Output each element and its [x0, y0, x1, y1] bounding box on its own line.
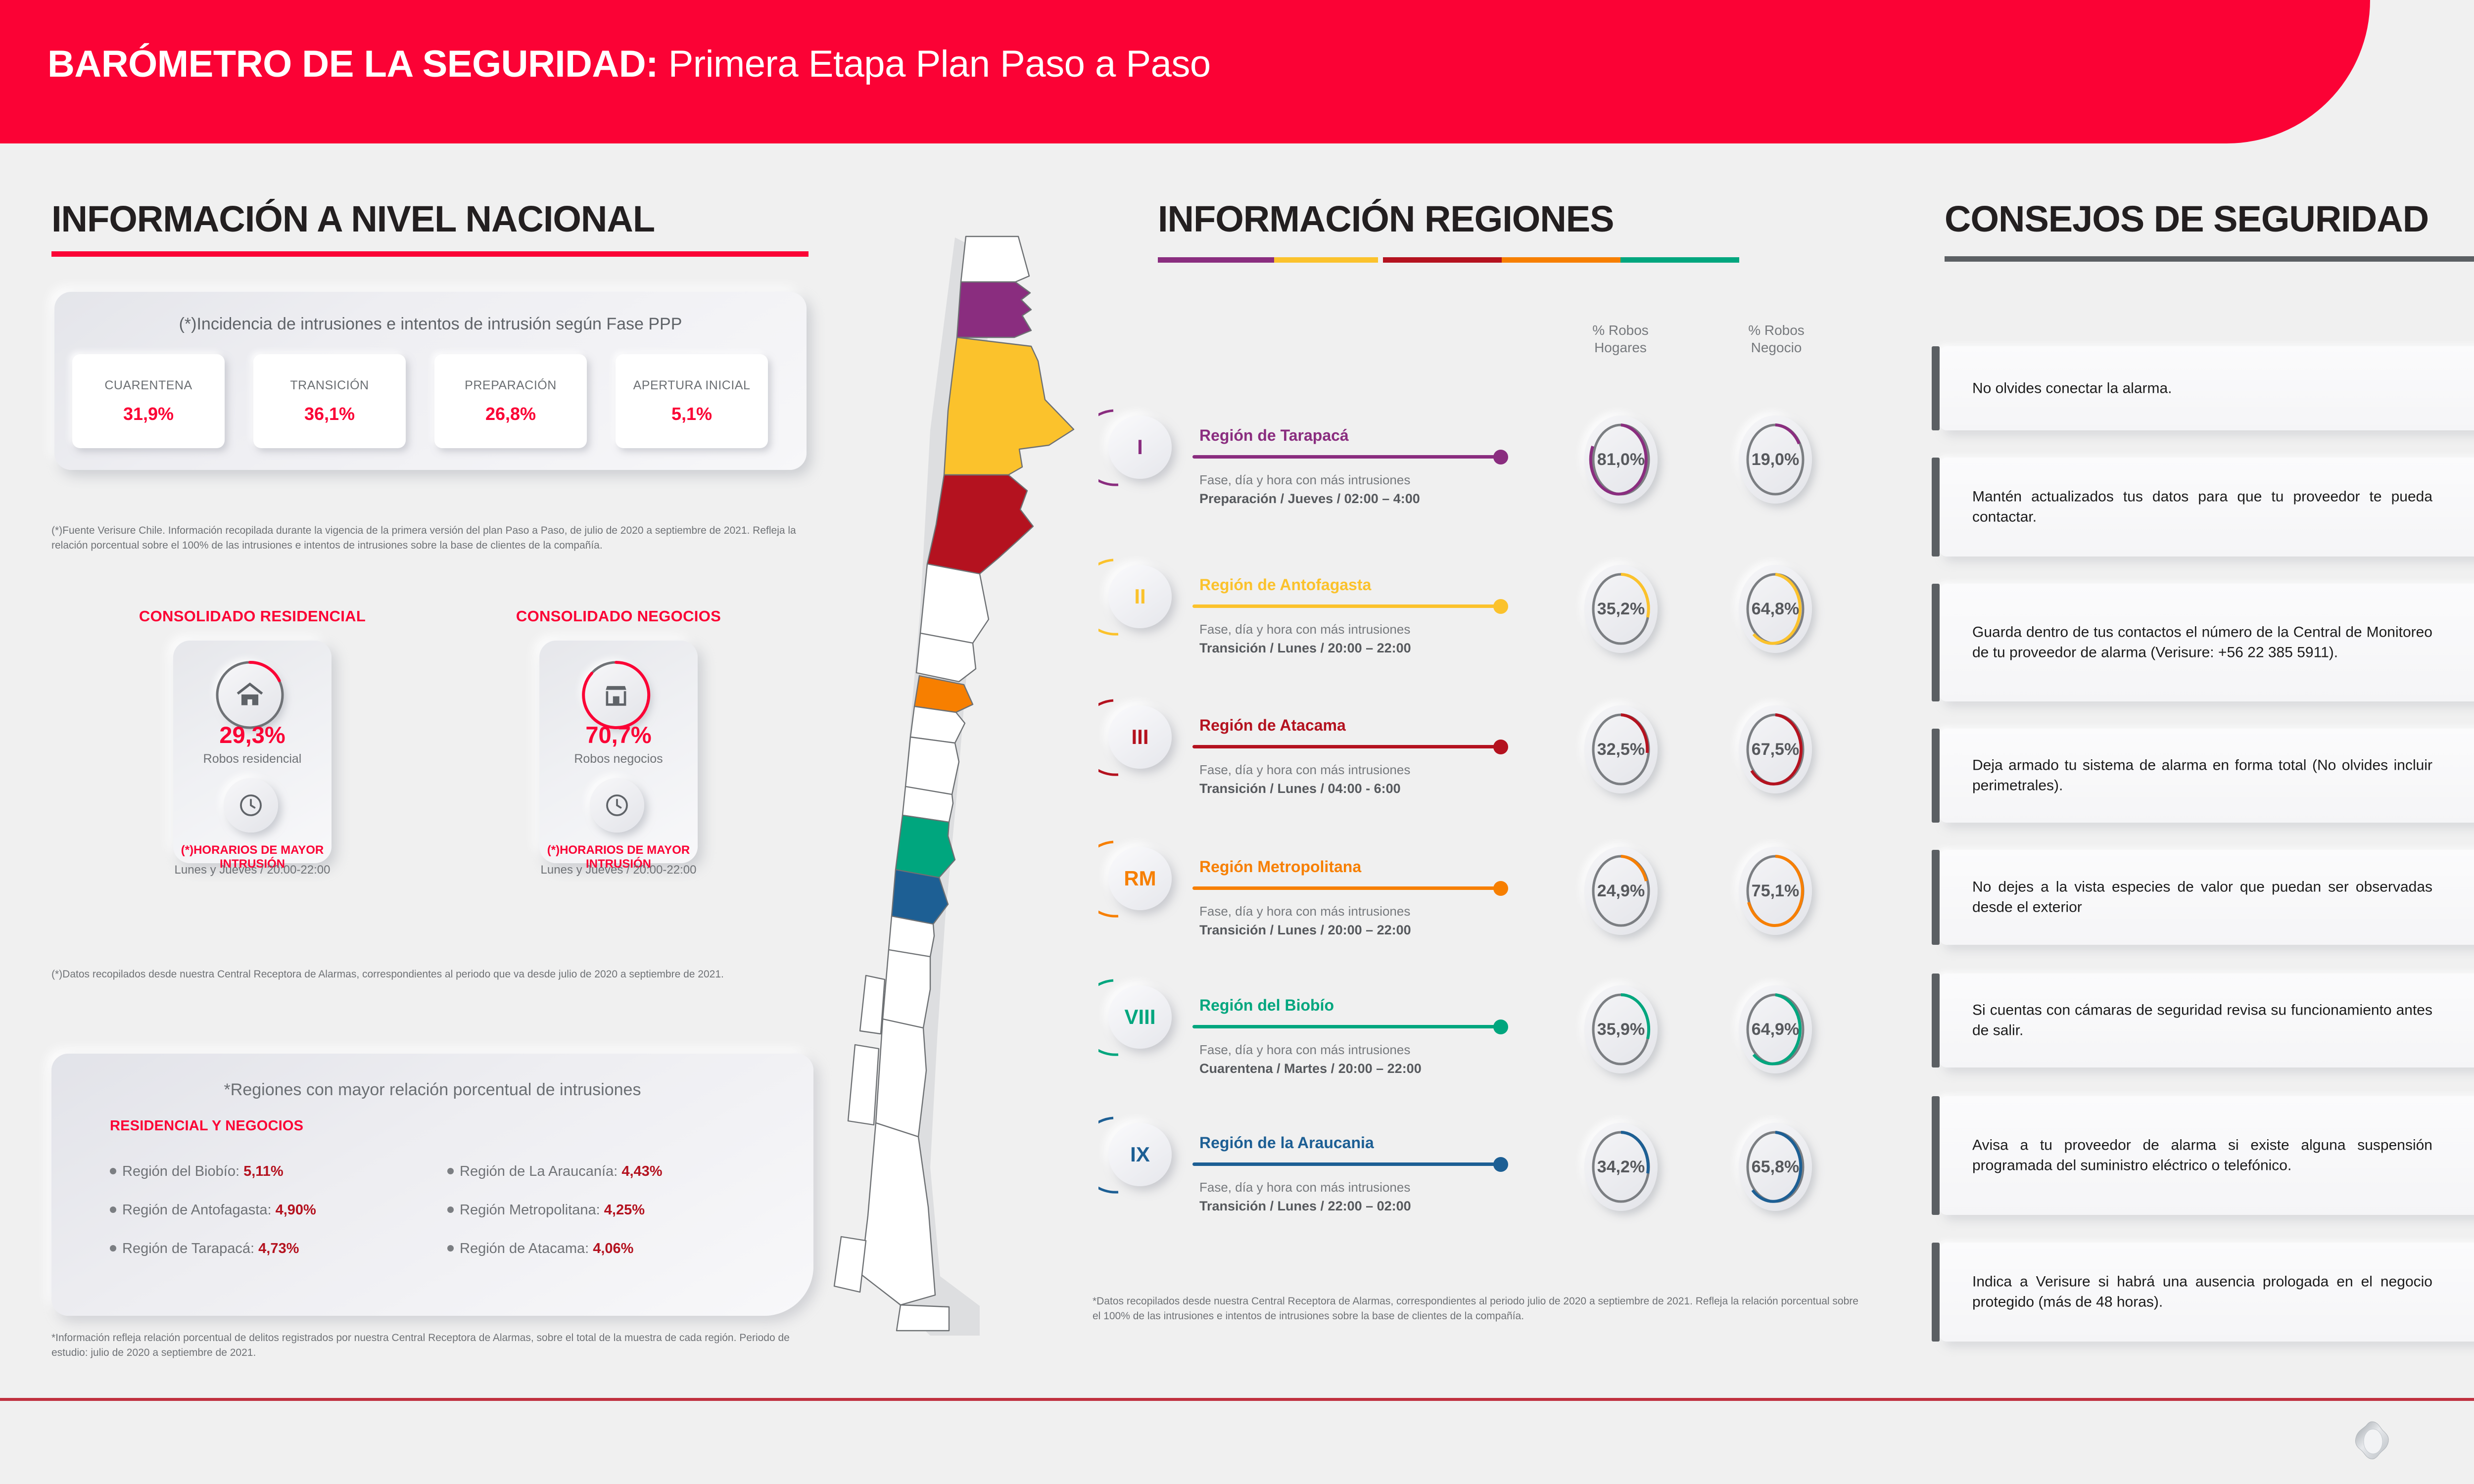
national-title-underline	[51, 251, 809, 257]
region-badge-arc	[1098, 406, 1182, 489]
chile-map	[831, 198, 1138, 1345]
top-regions-panel: *Regiones con mayor relación porcentual …	[51, 1054, 813, 1316]
phase-value: 26,8%	[485, 404, 536, 424]
region-badge-arc	[1098, 1113, 1182, 1196]
region-detail: Transición / Lunes / 04:00 - 6:00	[1199, 781, 1401, 796]
phase-value: 36,1%	[304, 404, 355, 424]
phase-label: APERTURA INICIAL	[633, 378, 751, 393]
verisure-shield-icon	[2352, 1421, 2392, 1461]
region-detail: Transición / Lunes / 22:00 – 02:00	[1199, 1199, 1411, 1214]
bullet-icon	[110, 1245, 116, 1252]
top-region-value: 4,73%	[258, 1241, 299, 1256]
clock-icon	[224, 778, 278, 833]
region-name: Región de la Araucania	[1199, 1134, 1374, 1152]
bullet-icon	[447, 1168, 454, 1174]
regions-underline-seg-2	[1274, 257, 1378, 263]
top-region-item: Región Metropolitana: 4,25%	[447, 1202, 645, 1218]
region-homes-value: 35,9%	[1584, 985, 1658, 1073]
tip-text: No olvides conectar la alarma.	[1972, 378, 2432, 398]
region-homes-value: 32,5%	[1584, 705, 1658, 793]
tip-text: No dejes a la vista especies de valor qu…	[1972, 877, 2432, 918]
page-header: BARÓMETRO DE LA SEGURIDAD: Primera Etapa…	[0, 0, 2370, 143]
region-name: Región Metropolitana	[1199, 858, 1361, 876]
regions-footnote: *Datos recopilados desde nuestra Central…	[1093, 1294, 1864, 1324]
bullet-icon	[447, 1245, 454, 1252]
top-region-value: 4,43%	[621, 1163, 662, 1179]
tip-accent-bar	[1932, 346, 1940, 430]
region-connector-line	[1192, 604, 1499, 608]
region-business-value: 67,5%	[1739, 705, 1812, 793]
phase-label: TRANSICIÓN	[290, 378, 369, 393]
region-detail: Transición / Lunes / 20:00 – 22:00	[1199, 641, 1411, 656]
region-business-ring: 64,8%	[1739, 565, 1812, 653]
top-region-item: Región del Biobío: 5,11%	[110, 1163, 284, 1180]
phase-card-heading: (*)Incidencia de intrusiones e intentos …	[54, 315, 807, 334]
tip-card[interactable]: Avisa a tu proveedor de alarma si existe…	[1940, 1096, 2474, 1215]
region-connector-line	[1192, 455, 1499, 459]
region-sub-label: Fase, día y hora con más intrusiones	[1199, 1042, 1410, 1058]
top-region-item: Región de Tarapacá: 4,73%	[110, 1241, 299, 1257]
bullet-icon	[110, 1168, 116, 1174]
region-homes-value: 35,2%	[1584, 565, 1658, 653]
region-business-ring: 19,0%	[1739, 416, 1812, 504]
top-region-item: Región de La Araucanía: 4,43%	[447, 1163, 663, 1180]
column-header-hogares: % Robos Hogares	[1566, 322, 1675, 356]
region-connector-dot	[1493, 1157, 1508, 1172]
top-region-item: Región de Atacama: 4,06%	[447, 1241, 633, 1257]
top-region-name: Región de Tarapacá:	[122, 1241, 254, 1256]
section-title-national: INFORMACIÓN A NIVEL NACIONAL	[51, 198, 655, 240]
tip-accent-bar	[1932, 458, 1940, 556]
top-region-name: Región de Atacama:	[460, 1241, 589, 1256]
top-region-name: Región de La Araucanía:	[460, 1163, 618, 1179]
region-connector-line	[1192, 1025, 1499, 1028]
region-badge-arc	[1098, 837, 1182, 920]
tips-title-underline	[1945, 256, 2474, 262]
bullet-icon	[110, 1206, 116, 1213]
region-badge-arc	[1098, 696, 1182, 779]
business-value-label: Robos negocios	[539, 752, 698, 766]
top-region-value: 4,90%	[276, 1202, 316, 1218]
region-badge-arc	[1098, 975, 1182, 1059]
region-business-ring: 65,8%	[1739, 1123, 1812, 1211]
business-hours-value: Lunes y Jueves / 20:00-22:00	[539, 863, 698, 877]
region-business-value: 75,1%	[1739, 847, 1812, 935]
top-region-name: Región de Antofagasta:	[122, 1202, 272, 1218]
region-business-ring: 67,5%	[1739, 705, 1812, 793]
region-badge-arc	[1098, 555, 1182, 638]
region-detail: Preparación / Jueves / 02:00 – 4:00	[1199, 491, 1420, 507]
region-name: Región de Atacama	[1199, 716, 1346, 735]
region-name: Región del Biobío	[1199, 996, 1334, 1015]
consolidated-business-title: CONSOLIDADO NEGOCIOS	[495, 607, 742, 625]
phase-label: CUARENTENA	[104, 378, 192, 393]
phase-value: 31,9%	[123, 404, 174, 424]
business-value: 70,7%	[539, 721, 698, 748]
phase-tile-preparacion: PREPARACIÓN 26,8%	[434, 354, 587, 448]
tip-text: Mantén actualizados tus datos para que t…	[1972, 487, 2432, 528]
region-business-value: 19,0%	[1739, 416, 1812, 504]
region-homes-value: 34,2%	[1584, 1123, 1658, 1211]
region-sub-label: Fase, día y hora con más intrusiones	[1199, 904, 1410, 919]
tip-accent-bar	[1932, 974, 1940, 1067]
section-title-regions: INFORMACIÓN REGIONES	[1158, 198, 1614, 240]
national-footnote-1: (*)Fuente Verisure Chile. Información re…	[51, 523, 813, 554]
regions-underline-seg-5	[1620, 257, 1739, 263]
tip-text: Deja armado tu sistema de alarma en form…	[1972, 755, 2432, 796]
tip-card[interactable]: Si cuentas con cámaras de seguridad revi…	[1940, 974, 2474, 1067]
national-footnote-2: (*)Datos recopilados desde nuestra Centr…	[51, 967, 816, 982]
page-title-bold: BARÓMETRO DE LA SEGURIDAD:	[48, 43, 658, 85]
region-connector-dot	[1493, 740, 1508, 754]
top-region-value: 4,25%	[604, 1202, 645, 1218]
tip-card[interactable]: Deja armado tu sistema de alarma en form…	[1940, 729, 2474, 823]
consolidated-residential-title: CONSOLIDADO RESIDENCIAL	[124, 607, 381, 625]
residential-value-label: Robos residencial	[173, 752, 332, 766]
region-name: Región de Antofagasta	[1199, 576, 1371, 594]
bullet-icon	[447, 1206, 454, 1213]
top-region-name: Región del Biobío:	[122, 1163, 239, 1179]
region-sub-label: Fase, día y hora con más intrusiones	[1199, 762, 1410, 778]
top-region-item: Región de Antofagasta: 4,90%	[110, 1202, 316, 1218]
region-business-value: 64,9%	[1739, 985, 1812, 1073]
tip-card[interactable]: No olvides conectar la alarma.	[1940, 346, 2474, 430]
phase-tile-cuarentena: CUARENTENA 31,9%	[72, 354, 225, 448]
tip-text: Avisa a tu proveedor de alarma si existe…	[1972, 1135, 2432, 1176]
column-header-negocio: % Robos Negocio	[1722, 322, 1831, 356]
national-footnote-3: *Información refleja relación porcentual…	[51, 1331, 816, 1361]
region-connector-line	[1192, 745, 1499, 748]
region-connector-dot	[1493, 599, 1508, 614]
column-header-hogares-line2: Hogares	[1566, 339, 1675, 356]
phase-tile-transicion: TRANSICIÓN 36,1%	[253, 354, 406, 448]
tip-text: Guarda dentro de tus contactos el número…	[1972, 622, 2432, 663]
top-regions-subtitle: RESIDENCIAL Y NEGOCIOS	[110, 1118, 303, 1134]
column-header-negocio-line1: % Robos	[1722, 322, 1831, 339]
region-business-value: 65,8%	[1739, 1123, 1812, 1211]
region-detail: Cuarentena / Martes / 20:00 – 22:00	[1199, 1061, 1422, 1076]
top-regions-title: *Regiones con mayor relación porcentual …	[51, 1080, 813, 1100]
region-homes-ring: 34,2%	[1584, 1123, 1658, 1211]
tip-accent-bar	[1932, 1243, 1940, 1342]
region-name: Región de Tarapacá	[1199, 426, 1349, 445]
region-business-ring: 64,9%	[1739, 985, 1812, 1073]
phase-label: PREPARACIÓN	[465, 378, 557, 393]
top-region-value: 5,11%	[243, 1163, 284, 1179]
region-homes-ring: 81,0%	[1584, 416, 1658, 504]
region-connector-dot	[1493, 450, 1508, 464]
footer-divider	[0, 1398, 2474, 1401]
top-region-name: Región Metropolitana:	[460, 1202, 600, 1218]
region-connector-dot	[1493, 1020, 1508, 1034]
residential-value: 29,3%	[173, 721, 332, 748]
region-sub-label: Fase, día y hora con más intrusiones	[1199, 472, 1410, 488]
region-detail: Transición / Lunes / 20:00 – 22:00	[1199, 923, 1411, 938]
regions-underline-seg-1	[1158, 257, 1274, 263]
tip-card[interactable]: No dejes a la vista especies de valor qu…	[1940, 850, 2474, 945]
region-homes-ring: 24,9%	[1584, 847, 1658, 935]
clock-icon	[590, 778, 644, 833]
region-business-value: 64,8%	[1739, 565, 1812, 653]
region-homes-ring: 35,9%	[1584, 985, 1658, 1073]
residential-hours-value: Lunes y Jueves / 20:00-22:00	[173, 863, 332, 877]
region-connector-dot	[1493, 881, 1508, 896]
tip-card[interactable]: Indica a Verisure si habrá una ausencia …	[1940, 1243, 2474, 1342]
column-header-negocio-line2: Negocio	[1722, 339, 1831, 356]
region-homes-ring: 32,5%	[1584, 705, 1658, 793]
tip-accent-bar	[1932, 729, 1940, 823]
tip-text: Indica a Verisure si habrá una ausencia …	[1972, 1272, 2432, 1313]
column-header-hogares-line1: % Robos	[1566, 322, 1675, 339]
region-homes-value: 81,0%	[1584, 416, 1658, 504]
page-title: BARÓMETRO DE LA SEGURIDAD: Primera Etapa…	[48, 46, 1211, 83]
regions-underline-seg-4	[1502, 257, 1620, 263]
region-connector-line	[1192, 1162, 1499, 1166]
region-sub-label: Fase, día y hora con más intrusiones	[1199, 622, 1410, 637]
tip-card[interactable]: Mantén actualizados tus datos para que t…	[1940, 458, 2474, 556]
region-business-ring: 75,1%	[1739, 847, 1812, 935]
phase-tile-apertura: APERTURA INICIAL 5,1%	[616, 354, 768, 448]
top-region-value: 4,06%	[593, 1241, 633, 1256]
tip-accent-bar	[1932, 850, 1940, 945]
tip-card[interactable]: Guarda dentro de tus contactos el número…	[1940, 584, 2474, 701]
region-connector-line	[1192, 886, 1499, 890]
regions-underline-seg-3	[1383, 257, 1502, 263]
phase-value: 5,1%	[671, 404, 712, 424]
tip-text: Si cuentas con cámaras de seguridad revi…	[1972, 1000, 2432, 1041]
section-title-tips: CONSEJOS DE SEGURIDAD	[1945, 198, 2428, 240]
page-title-rest: Primera Etapa Plan Paso a Paso	[658, 43, 1211, 85]
region-sub-label: Fase, día y hora con más intrusiones	[1199, 1180, 1410, 1195]
tip-accent-bar	[1932, 584, 1940, 701]
tip-accent-bar	[1932, 1096, 1940, 1215]
region-homes-ring: 35,2%	[1584, 565, 1658, 653]
region-homes-value: 24,9%	[1584, 847, 1658, 935]
infographic-page: BARÓMETRO DE LA SEGURIDAD: Primera Etapa…	[0, 0, 2474, 1484]
